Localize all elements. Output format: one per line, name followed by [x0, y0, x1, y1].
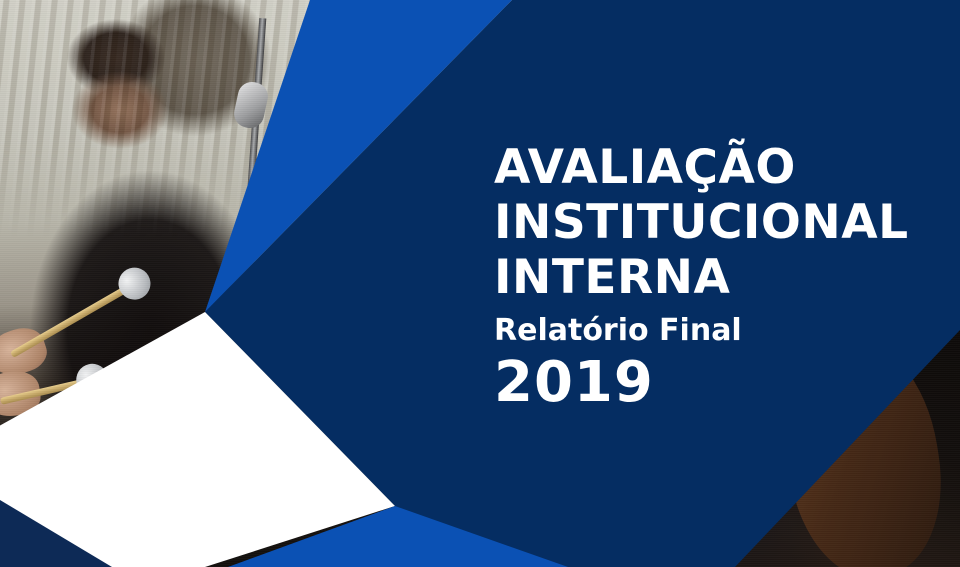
title-block: AVALIAÇÃO INSTITUCIONAL INTERNA Relatóri… [494, 140, 914, 413]
title-line-2: INSTITUCIONAL [494, 195, 914, 250]
report-cover: AVALIAÇÃO INSTITUCIONAL INTERNA Relatóri… [0, 0, 960, 567]
report-subtitle: Relatório Final [494, 309, 914, 353]
report-year: 2019 [494, 353, 914, 413]
title-line-1: AVALIAÇÃO [494, 140, 914, 195]
title-line-3: INTERNA [494, 250, 914, 305]
